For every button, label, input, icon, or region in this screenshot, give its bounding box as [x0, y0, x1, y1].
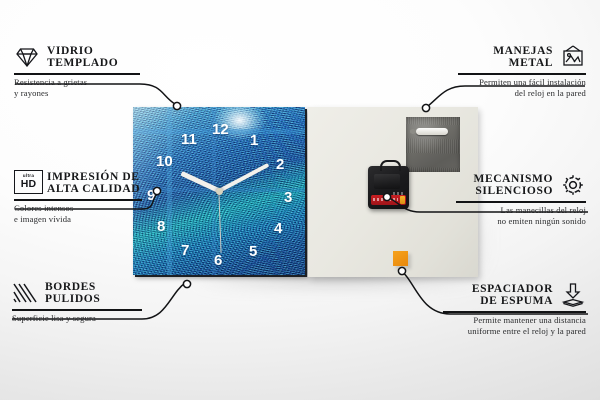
callout-rule [456, 201, 586, 203]
callout-title: ESPACIADOR DE ESPUMA [443, 283, 553, 308]
hanging-picture-icon [560, 44, 586, 70]
gear-icon [560, 172, 586, 198]
clock-number-2: 2 [276, 157, 284, 172]
clock-number-8: 8 [157, 219, 165, 234]
callout-metal-handles: MANEJAS METAL Permiten una fácil instala… [458, 44, 586, 98]
infographic-canvas: 12 1 2 3 4 5 6 7 8 9 10 11 [0, 0, 600, 400]
clock-number-3: 3 [284, 190, 292, 205]
hanger-slot [416, 128, 448, 135]
clock-back-panel [308, 107, 478, 277]
callout-head: VIDRIO TEMPLADO [14, 44, 140, 70]
callout-title: VIDRIO TEMPLADO [47, 45, 118, 70]
callout-title: IMPRESIÓN DE ALTA CALIDAD [47, 171, 140, 196]
callout-title: MECANISMO SILENCIOSO [456, 173, 553, 198]
clock-front-panel: 12 1 2 3 4 5 6 7 8 9 10 11 [133, 107, 305, 275]
callout-rule [443, 311, 586, 313]
clock-number-11: 11 [181, 132, 197, 147]
ultra-hd-icon: ultra HD [14, 170, 40, 196]
callout-polished-edges: BORDES PULIDOS Superficie lisa y segura [12, 280, 142, 324]
mechanism-hanging-loop [380, 160, 401, 171]
callout-silent-mechanism: MECANISMO SILENCIOSO Las manecillas del … [456, 172, 586, 226]
aa-battery [371, 195, 406, 205]
foam-spacer-pad [393, 251, 408, 266]
callout-head: MANEJAS METAL [458, 44, 586, 70]
callout-rule [14, 73, 140, 75]
callout-hd-print: ultra HD IMPRESIÓN DE ALTA CALIDAD Color… [14, 170, 142, 224]
callout-tempered-glass: VIDRIO TEMPLADO Resistencia a grietas y … [14, 44, 140, 98]
callout-description: Las manecillas del reloj no emiten ningú… [456, 205, 586, 226]
clock-number-9: 9 [147, 188, 155, 203]
clock-number-6: 6 [214, 253, 222, 268]
clock-face-artwork: 12 1 2 3 4 5 6 7 8 9 10 11 [133, 107, 305, 275]
clock-number-4: 4 [274, 221, 282, 236]
callout-head: ESPACIADOR DE ESPUMA [443, 282, 586, 308]
callout-description: Resistencia a grietas y rayones [14, 77, 140, 98]
diamond-icon [14, 44, 40, 70]
down-arrow-onto-surface-icon [560, 282, 586, 308]
callout-description: Colores intensos e imagen vívida [14, 203, 142, 224]
callout-title: BORDES PULIDOS [45, 281, 100, 306]
clock-number-10: 10 [156, 154, 173, 169]
callout-description: Permite mantener una distancia uniforme … [443, 315, 586, 336]
clock-number-12: 12 [212, 122, 229, 137]
clock-number-1: 1 [250, 133, 258, 148]
metal-hanger-plate [406, 117, 460, 172]
callout-head: BORDES PULIDOS [12, 280, 142, 306]
callout-description: Superficie lisa y segura [12, 313, 142, 323]
callout-head: ultra HD IMPRESIÓN DE ALTA CALIDAD [14, 170, 142, 196]
clock-center-hub [216, 188, 223, 195]
callout-foam-spacer: ESPACIADOR DE ESPUMA Permite mantener un… [443, 282, 586, 336]
callout-rule [12, 309, 142, 311]
clock-number-5: 5 [249, 244, 257, 259]
battery-tip [400, 196, 405, 204]
callout-head: MECANISMO SILENCIOSO [456, 172, 586, 198]
callout-title: MANEJAS METAL [458, 45, 553, 70]
silent-clock-mechanism [368, 166, 409, 209]
callout-rule [458, 73, 586, 75]
callout-description: Permiten una fácil instalación del reloj… [458, 77, 586, 98]
callout-rule [14, 199, 142, 201]
mechanism-body-ridge [374, 174, 400, 189]
clock-number-7: 7 [181, 243, 189, 258]
diagonal-lines-icon [12, 280, 38, 306]
